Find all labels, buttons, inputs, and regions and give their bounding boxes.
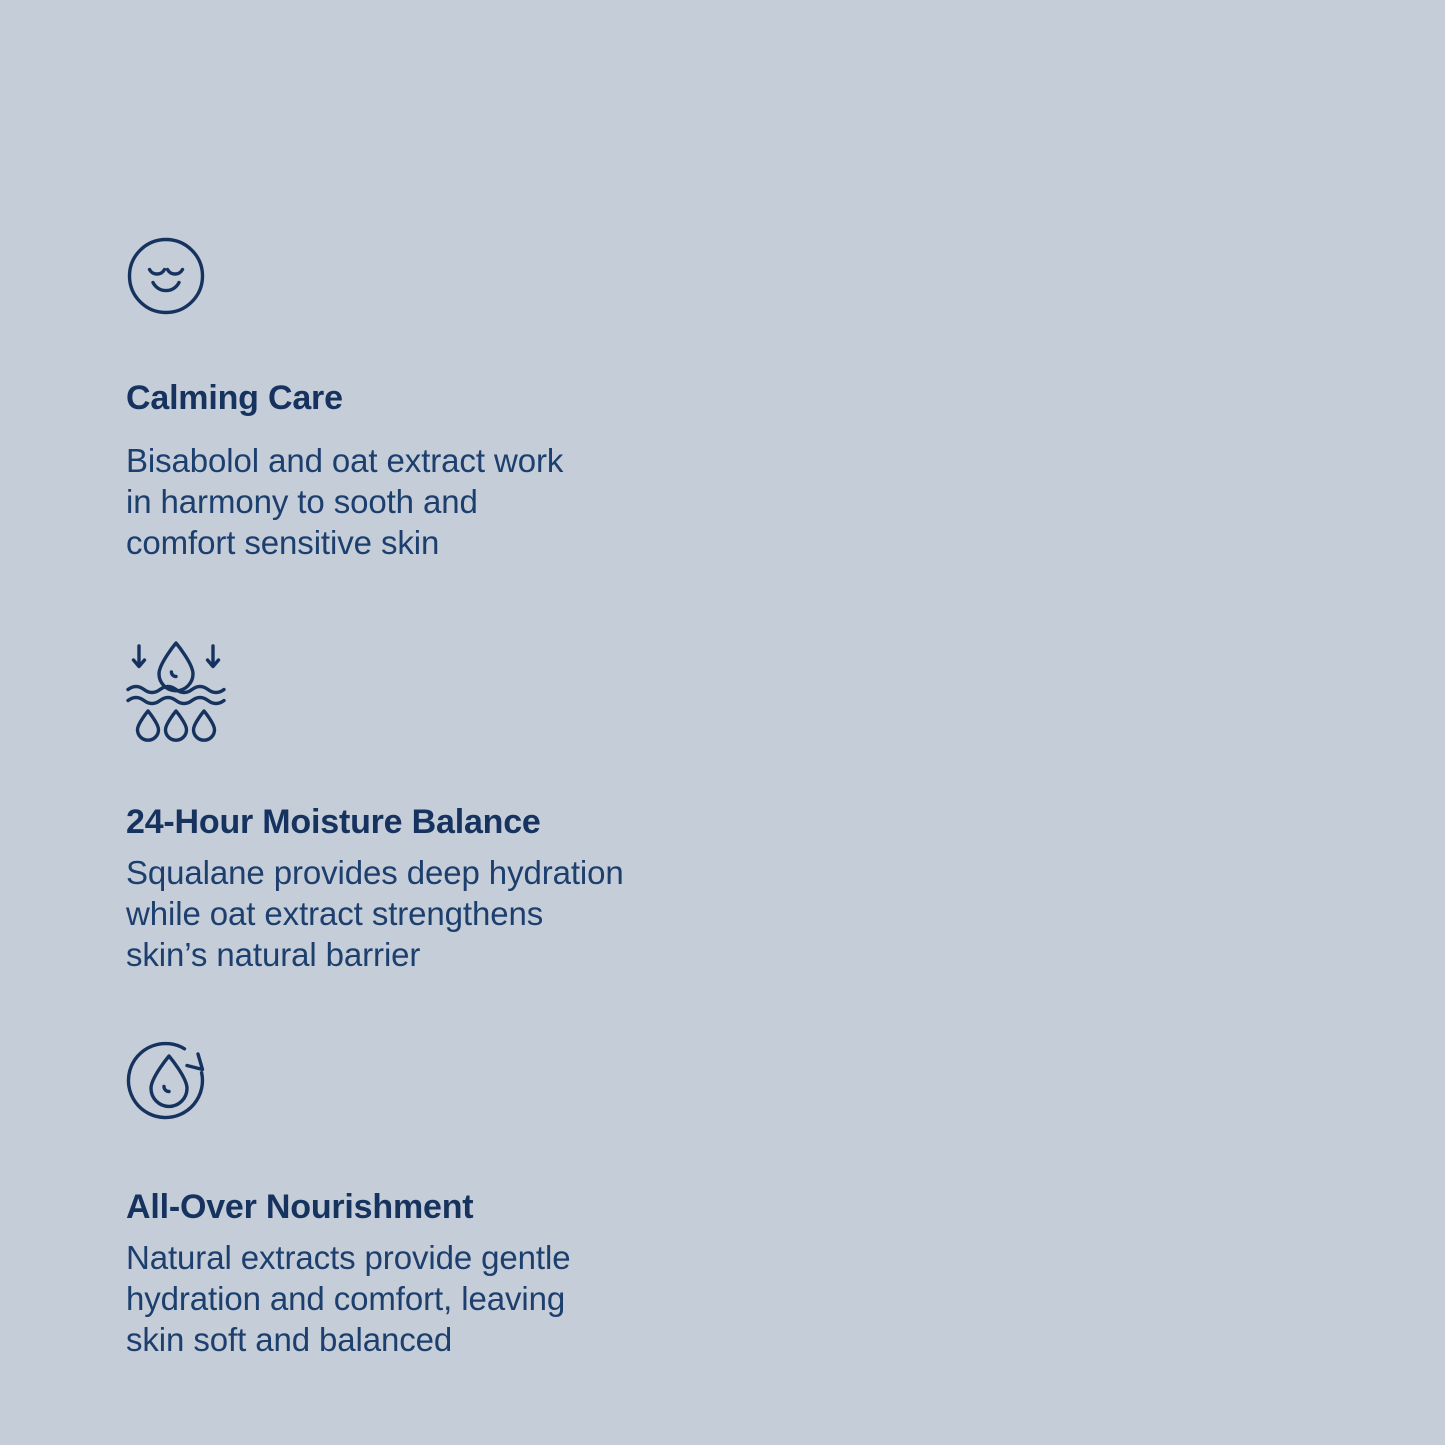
benefit-description-line: Bisabolol and oat extract work (126, 440, 563, 481)
benefit-description-line: Natural extracts provide gentle (126, 1237, 570, 1278)
benefit-description-line: comfort sensitive skin (126, 522, 563, 563)
benefit-description-line: skin’s natural barrier (126, 934, 624, 975)
benefit-description-line: while oat extract strengthens (126, 893, 624, 934)
benefit-description: Natural extracts provide gentle hydratio… (126, 1237, 570, 1360)
benefit-block-all-over-nourishment: All-Over Nourishment Natural extracts pr… (126, 1039, 570, 1360)
benefit-block-calming-care: Calming Care Bisabolol and oat extract w… (126, 236, 563, 563)
benefit-heading: Calming Care (126, 378, 563, 418)
benefit-block-moisture-balance: 24-Hour Moisture Balance Squalane provid… (126, 640, 624, 975)
benefit-description-line: hydration and comfort, leaving (126, 1278, 570, 1319)
benefit-description: Squalane provides deep hydration while o… (126, 852, 624, 975)
benefits-panel: Calming Care Bisabolol and oat extract w… (0, 0, 1445, 1445)
hydration-cycle-icon (126, 1039, 570, 1125)
benefit-heading: All-Over Nourishment (126, 1187, 570, 1227)
benefit-description-line: skin soft and balanced (126, 1319, 570, 1360)
calm-face-icon (126, 236, 563, 316)
benefit-description-line: Squalane provides deep hydration (126, 852, 624, 893)
benefit-description-line: in harmony to sooth and (126, 481, 563, 522)
benefit-description: Bisabolol and oat extract work in harmon… (126, 440, 563, 563)
moisture-absorption-icon (126, 640, 624, 740)
benefit-heading: 24-Hour Moisture Balance (126, 802, 624, 842)
